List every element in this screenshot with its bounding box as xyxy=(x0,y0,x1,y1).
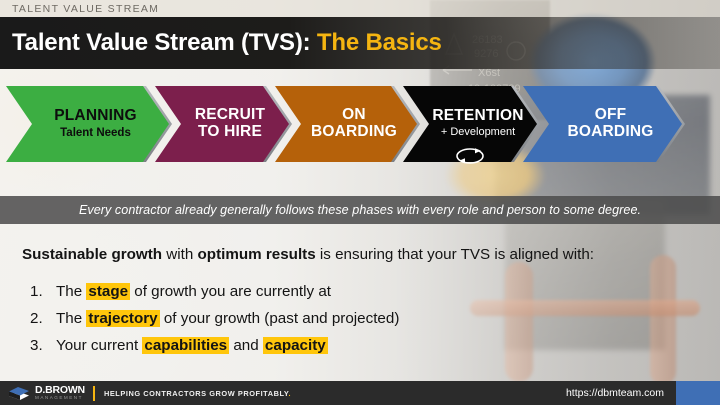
brand-subname: MANAGEMENT xyxy=(35,396,85,401)
list-item-text: Your current capabilities and capacity xyxy=(56,336,328,355)
lead-bold-2: optimum results xyxy=(198,246,316,263)
title-main: Talent Value Stream (TVS) xyxy=(12,29,303,56)
footer-website[interactable]: https://dbmteam.com xyxy=(566,381,664,405)
page-title: Talent Value Stream (TVS): The Basics xyxy=(0,29,442,57)
lead-bold-1: Sustainable growth xyxy=(22,246,162,263)
stacked-layers-logo-icon xyxy=(8,385,30,401)
stage-subtitle: BOARDING xyxy=(568,124,654,141)
title-band: Talent Value Stream (TVS): The Basics xyxy=(0,17,720,69)
list-item-number: 3. xyxy=(30,336,56,355)
item-mid: and xyxy=(229,337,263,354)
highlight-term: trajectory xyxy=(86,310,159,327)
list-item-number: 2. xyxy=(30,309,56,328)
stage-title: RETENTION xyxy=(432,108,523,125)
item-pre: The xyxy=(56,310,86,327)
stage-title: ON xyxy=(311,107,397,124)
footer-bar: D.BROWN MANAGEMENT HELPING CONTRACTORS G… xyxy=(0,381,720,405)
process-stage-retention[interactable]: RETENTION + Development xyxy=(403,86,537,162)
numbered-list: 1. The stage of growth you are currently… xyxy=(30,282,690,363)
item-pre: Your current xyxy=(56,337,142,354)
item-post: of growth you are currently at xyxy=(130,283,331,300)
quote-text: Every contractor already generally follo… xyxy=(79,203,641,217)
footer-accent-block xyxy=(676,381,720,405)
tagline-text: HELPING CONTRACTORS GROW PROFITABLY xyxy=(104,389,289,398)
list-item-number: 1. xyxy=(30,282,56,301)
item-post: of your growth (past and projected) xyxy=(160,310,400,327)
list-item-text: The trajectory of your growth (past and … xyxy=(56,309,399,328)
lead-text-2: is ensuring that your TVS is aligned wit… xyxy=(316,246,594,263)
stage-subtitle: BOARDING xyxy=(311,124,397,141)
lead-paragraph: Sustainable growth with optimum results … xyxy=(22,246,702,264)
process-stage-planning[interactable]: PLANNING Talent Needs xyxy=(6,86,169,162)
stage-title: OFF xyxy=(568,107,654,124)
process-stage-recruit[interactable]: RECRUIT TO HIRE xyxy=(155,86,289,162)
stage-subtitle: Talent Needs xyxy=(54,126,137,140)
list-item: 2. The trajectory of your growth (past a… xyxy=(30,309,690,328)
stage-label-group: RECRUIT TO HIRE xyxy=(179,107,265,140)
stage-label-group: RETENTION + Development xyxy=(416,108,523,139)
stage-label-group: PLANNING Talent Needs xyxy=(38,108,137,140)
lead-text-1: with xyxy=(162,246,197,263)
highlight-term: capabilities xyxy=(142,337,229,354)
highlight-term: stage xyxy=(86,283,130,300)
stage-label-group: OFF BOARDING xyxy=(552,107,654,140)
stage-label-group: ON BOARDING xyxy=(295,107,397,140)
highlight-term-2: capacity xyxy=(263,337,328,354)
list-item: 3. Your current capabilities and capacit… xyxy=(30,336,690,355)
kicker-label: TALENT VALUE STREAM xyxy=(0,3,159,15)
process-stage-onboarding[interactable]: ON BOARDING xyxy=(275,86,417,162)
cycle-arrows-icon xyxy=(453,144,487,168)
slide-canvas: 26183 9276 X6st 19-109739 TALENT VALUE S… xyxy=(0,0,720,405)
item-pre: The xyxy=(56,283,86,300)
stage-subtitle: + Development xyxy=(432,126,523,140)
brand-name: D.BROWN xyxy=(35,385,85,396)
brand-logo[interactable]: D.BROWN MANAGEMENT xyxy=(0,385,85,401)
process-flow: PLANNING Talent Needs RECRUIT TO HIRE ON… xyxy=(6,86,714,162)
stage-title: PLANNING xyxy=(54,108,137,125)
kicker-bar: TALENT VALUE STREAM xyxy=(0,0,720,17)
stage-title: RECRUIT xyxy=(195,107,265,124)
title-colon: : xyxy=(303,29,311,56)
footer-divider xyxy=(93,386,95,401)
tagline-dot: . xyxy=(289,389,292,398)
stage-subtitle: TO HIRE xyxy=(195,124,265,141)
list-item-text: The stage of growth you are currently at xyxy=(56,282,331,301)
quote-strip: Every contractor already generally follo… xyxy=(0,196,720,224)
list-item: 1. The stage of growth you are currently… xyxy=(30,282,690,301)
brand-wordmark: D.BROWN MANAGEMENT xyxy=(35,385,85,401)
title-accent: The Basics xyxy=(317,29,442,56)
footer-tagline: HELPING CONTRACTORS GROW PROFITABLY. xyxy=(104,389,291,398)
process-stage-offboarding[interactable]: OFF BOARDING xyxy=(523,86,682,162)
